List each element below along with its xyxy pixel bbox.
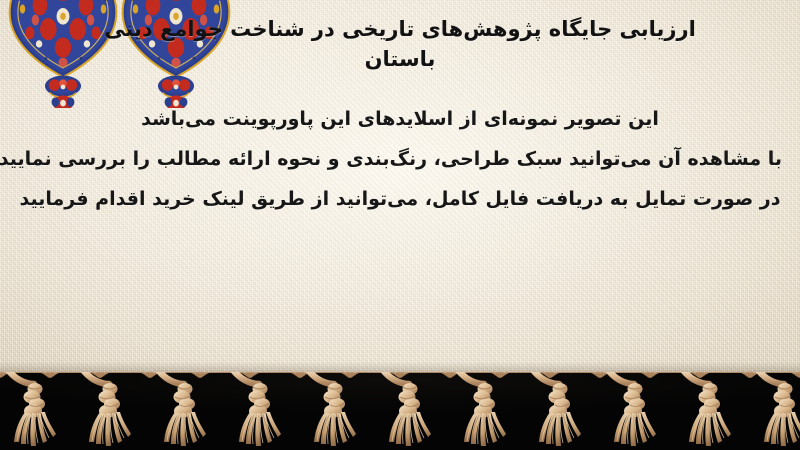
slide-body: این تصویر نمونه‌ای از اسلایدهای این پاور… [0,110,800,209]
tassel-fringe [0,372,800,450]
slide-title: ارزیابی جایگاه پژوهش‌های تاریخی در شناخت… [0,14,800,75]
fringe-tassels [8,372,800,446]
slide-title-line-1: ارزیابی جایگاه پژوهش‌های تاریخی در شناخت… [26,14,774,44]
bottom-black-band [0,372,800,450]
fringe-rope-edge [0,372,800,374]
slide-canvas: ارزیابی جایگاه پژوهش‌های تاریخی در شناخت… [0,0,800,450]
body-line-3: در صورت تمایل به دریافت فایل کامل، می‌تو… [18,190,782,209]
slide-title-line-2: باستان [26,44,774,74]
body-line-1: این تصویر نمونه‌ای از اسلایدهای این پاور… [18,110,782,129]
body-line-2: با مشاهده آن می‌توانید سبک طراحی، رنگ‌بن… [18,150,782,169]
